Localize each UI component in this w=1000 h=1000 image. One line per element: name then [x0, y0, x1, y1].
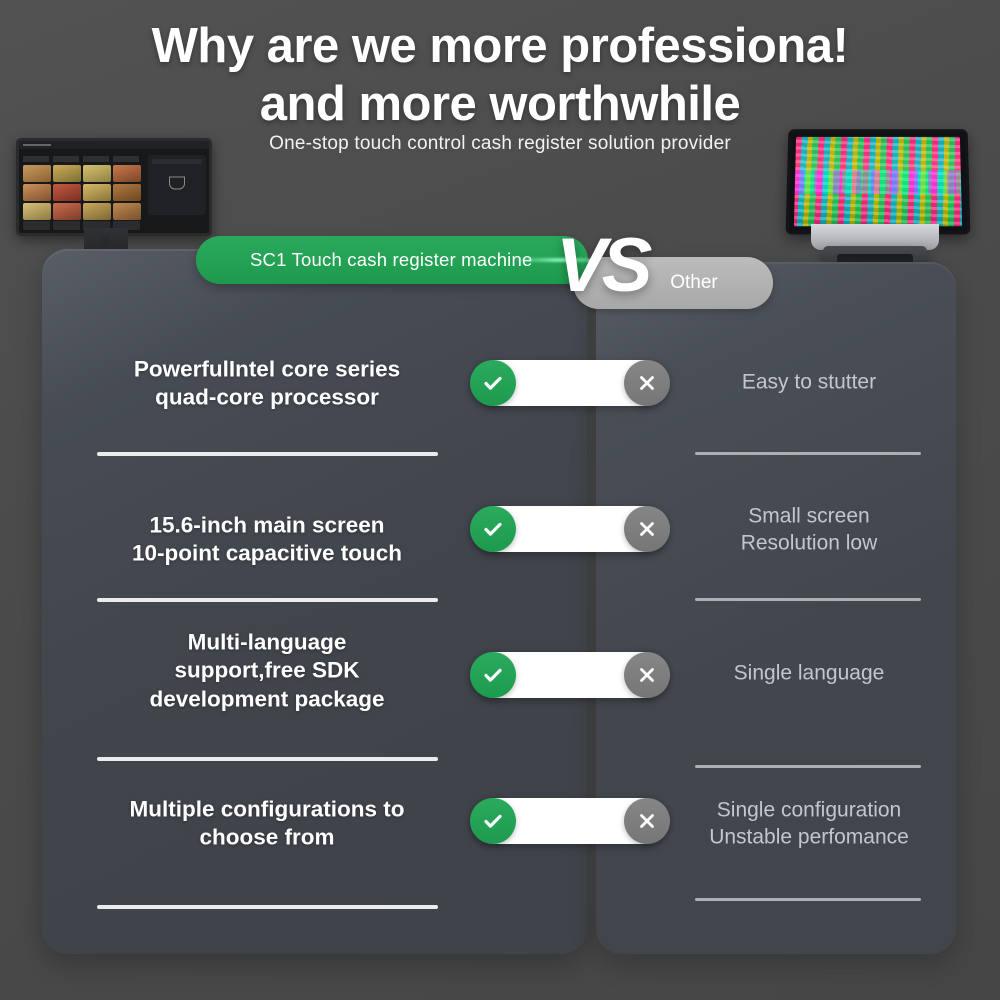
headline-line-1: Why are we more professiona!: [152, 19, 849, 73]
check-icon: [470, 652, 516, 698]
feature-theirs-1: Easy to stutter: [693, 368, 925, 395]
cart-icon: [169, 176, 185, 189]
divider-theirs-1: [695, 452, 921, 455]
sc1-screen-topbar: [19, 141, 209, 149]
cross-icon: [624, 652, 670, 698]
feature-ours-2: 15.6-inch main screen10-point capacitive…: [97, 512, 437, 569]
toggle-row-4[interactable]: [472, 798, 666, 844]
feature-theirs-4: Single configurationUnstable perfomance: [693, 797, 925, 852]
infographic-canvas: Why are we more professiona! and more wo…: [0, 0, 1000, 1000]
vs-badge: VS: [556, 222, 647, 309]
check-icon: [470, 506, 516, 552]
divider-theirs-2: [695, 598, 921, 601]
sc1-banner-label: SC1 Touch cash register machine: [250, 249, 532, 271]
divider-ours-3: [97, 757, 438, 761]
sc1-cart-panel: [148, 155, 206, 215]
sc1-food-grid: [23, 165, 143, 220]
feature-theirs-2: Small screenResolution low: [693, 503, 925, 558]
feature-theirs-3: Single language: [693, 659, 925, 686]
page-title: Why are we more professiona! and more wo…: [0, 22, 1000, 129]
other-screen: [786, 129, 971, 234]
divider-ours-2: [97, 598, 438, 602]
feature-ours-1: PowerfulIntel core seriesquad-core proce…: [97, 356, 437, 413]
sc1-banner: SC1 Touch cash register machine: [196, 236, 588, 284]
other-screen-glitch: [794, 137, 962, 226]
divider-ours-4: [97, 905, 438, 909]
divider-theirs-3: [695, 765, 921, 768]
toggle-row-3[interactable]: [472, 652, 666, 698]
check-icon: [470, 360, 516, 406]
cross-icon: [624, 798, 670, 844]
cross-icon: [624, 360, 670, 406]
feature-ours-3: Multi-languagesupport,free SDKdevelopmen…: [97, 628, 437, 713]
check-icon: [470, 798, 516, 844]
feature-ours-4: Multiple configurations tochoose from: [97, 796, 437, 853]
toggle-row-2[interactable]: [472, 506, 666, 552]
divider-theirs-4: [695, 898, 921, 901]
cross-icon: [624, 506, 670, 552]
headline-line-2: and more worthwhile: [0, 80, 1000, 129]
sc1-screen: [16, 138, 212, 236]
divider-ours-1: [97, 452, 438, 456]
sc1-screen-tabs: [23, 156, 141, 162]
toggle-row-1[interactable]: [472, 360, 666, 406]
